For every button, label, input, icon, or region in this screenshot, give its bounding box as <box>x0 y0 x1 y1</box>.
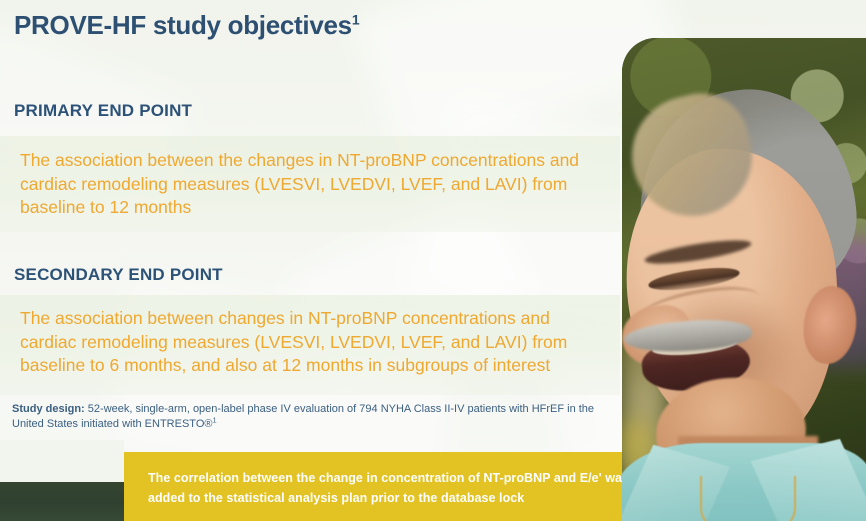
study-design-label: Study design: <box>12 403 85 415</box>
secondary-endpoint-body: The association between changes in NT-pr… <box>20 307 605 378</box>
primary-endpoint-body: The association between the changes in N… <box>20 149 605 220</box>
page-title: PROVE-HF study objectives1 <box>14 10 359 41</box>
callout-text: The correlation between the change in co… <box>148 468 633 508</box>
slide-root: PROVE-HF study objectives1 PRIMARY END P… <box>0 0 866 521</box>
page-title-text: PROVE-HF study objectives <box>14 10 352 40</box>
callout-box: The correlation between the change in co… <box>124 452 657 521</box>
primary-endpoint-heading: PRIMARY END POINT <box>14 101 192 121</box>
background-sliver <box>0 440 124 482</box>
secondary-endpoint-heading: SECONDARY END POINT <box>14 265 223 285</box>
study-design-superscript: 1 <box>212 415 216 424</box>
photo-necklace-chain <box>700 476 796 521</box>
patient-photo <box>622 38 866 521</box>
study-design-footnote: Study design: 52-week, single-arm, open-… <box>12 402 602 431</box>
page-title-superscript: 1 <box>352 11 360 27</box>
study-design-text: 52-week, single-arm, open-label phase IV… <box>12 403 594 430</box>
